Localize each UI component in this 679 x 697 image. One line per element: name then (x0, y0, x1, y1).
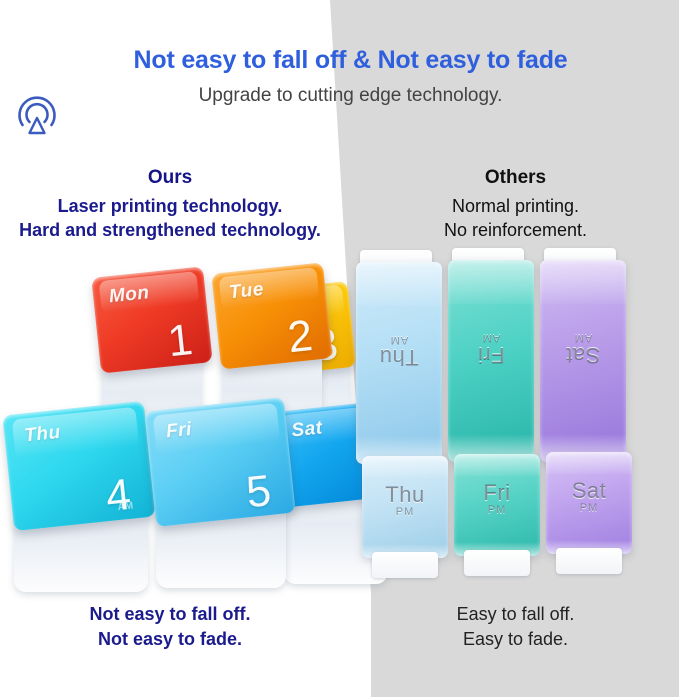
column-others: Others Normal printing. No reinforcement… (352, 165, 679, 242)
pillbox-number-label: 2 (286, 314, 315, 360)
pillbox-day-label: Fri (454, 480, 540, 506)
ours-description-line: Laser printing technology. (0, 194, 340, 218)
pillbox-number-label: 5 (244, 469, 273, 515)
pillbox-day-label: Thu (356, 344, 442, 370)
caption-ours: Not easy to fall off. Not easy to fade. (0, 602, 340, 652)
caption-others: Easy to fall off. Easy to fade. (352, 602, 679, 652)
pillbox-lid-mon: Mon 1 (91, 266, 212, 373)
pillbox-lid-tue: Tue 2 (211, 262, 332, 369)
pillbox-label-sat-pm: Sat PM (546, 478, 632, 514)
pillbox-day-label: Mon (108, 282, 151, 308)
pillbox-fri-pm: Fri PM (454, 454, 540, 556)
ours-heading: Ours (0, 165, 340, 190)
others-description-line: Normal printing. (352, 194, 679, 218)
pillbox-day-label: Thu (362, 482, 448, 508)
others-description-line: No reinforcement. (352, 218, 679, 242)
pillbox-tab (372, 552, 438, 578)
pillbox-label-sat-am: Sat AM (540, 332, 626, 368)
pillbox-lid-thu: Thu 4 AM (2, 401, 155, 531)
pillbox-period-label: PM (362, 506, 448, 518)
pillbox-label-fri-am: Fri AM (448, 332, 534, 368)
caption-line: Not easy to fall off. (0, 602, 340, 627)
others-description: Normal printing. No reinforcement. (352, 194, 679, 242)
pillbox-period-label: AM (448, 332, 534, 344)
pillbox-tab (464, 550, 530, 576)
pillbox-period-label: AM (540, 332, 626, 344)
ours-description: Laser printing technology. Hard and stre… (0, 194, 340, 242)
pillbox-day-label: Sat (290, 417, 323, 442)
caption-line: Easy to fall off. (352, 602, 679, 627)
pillbox-lid-fri: Fri 5 (144, 397, 295, 527)
pillbox-ampm-label: AM (117, 501, 134, 514)
caption-line: Not easy to fade. (0, 627, 340, 652)
pillbox-sat-am: Sat AM (540, 260, 626, 462)
pillbox-label-thu-am: Thu AM (356, 334, 442, 370)
pillbox-day-label: Fri (165, 418, 193, 443)
others-heading: Others (352, 165, 679, 190)
pillbox-number-label: 1 (166, 318, 195, 364)
pillbox-period-label: PM (546, 502, 632, 514)
caption-line: Easy to fade. (352, 627, 679, 652)
header-banner: Not easy to fall off & Not easy to fade … (0, 40, 679, 130)
page-title: Not easy to fall off & Not easy to fade (0, 46, 679, 75)
pillbox-period-label: AM (356, 334, 442, 346)
pillbox-period-label: PM (454, 504, 540, 516)
pillbox-day-label: Tue (228, 278, 265, 304)
pillbox-tab (556, 548, 622, 574)
product-photo: Wed 3 Mon 1 Tue 2 Sat (0, 248, 679, 600)
ours-description-line: Hard and strengthened technology. (0, 218, 340, 242)
pillbox-thu-am: Thu AM (356, 262, 442, 464)
pillbox-label-fri-pm: Fri PM (454, 480, 540, 516)
column-ours: Ours Laser printing technology. Hard and… (0, 165, 340, 242)
product-comparison-image: Not easy to fall off & Not easy to fade … (0, 0, 679, 697)
pillbox-day-label: Thu (23, 421, 61, 447)
pillbox-thu-pm: Thu PM (362, 456, 448, 558)
pillbox-fri-am: Fri AM (448, 260, 534, 462)
pillbox-day-label: Sat (546, 478, 632, 504)
pillbox-label-thu-pm: Thu PM (362, 482, 448, 518)
pillbox-day-label: Fri (448, 342, 534, 368)
pillbox-day-label: Sat (540, 342, 626, 368)
pillbox-sat-pm: Sat PM (546, 452, 632, 554)
page-subtitle: Upgrade to cutting edge technology. (0, 85, 679, 107)
